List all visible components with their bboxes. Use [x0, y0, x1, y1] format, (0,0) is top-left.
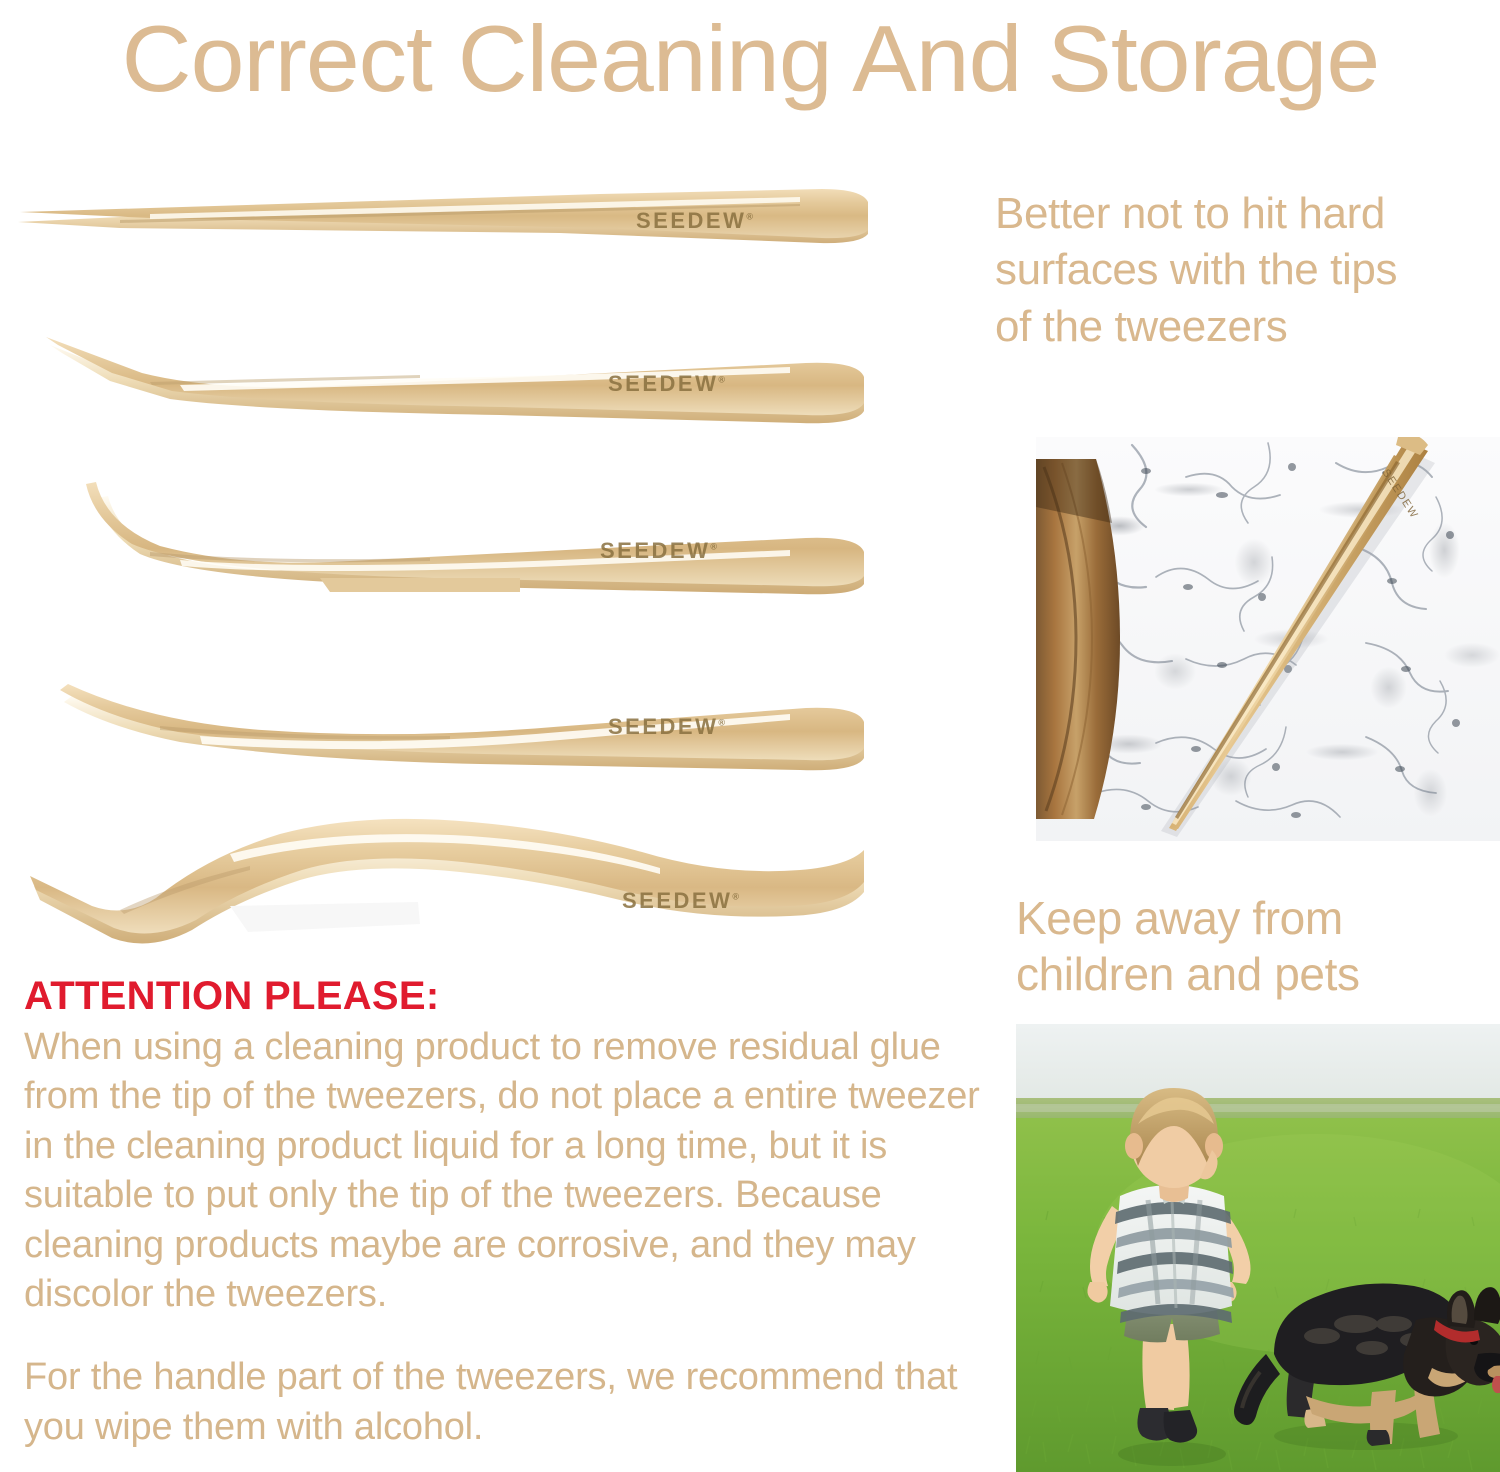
page-title: Correct Cleaning And Storage [121, 12, 1378, 106]
brand-name: SEEDEW [608, 714, 718, 739]
brand-trademark: ® [718, 718, 725, 728]
grass-scene [1016, 1024, 1500, 1472]
brand-logo: SEEDEW® [608, 714, 725, 740]
brand-trademark: ® [718, 375, 725, 385]
attention-paragraph-2: For the handle part of the tweezers, we … [24, 1353, 1004, 1452]
brand-name: SEEDEW [600, 538, 710, 563]
attention-paragraph-1: When using a cleaning product to remove … [24, 1023, 1004, 1319]
note-keep-line-2: children and pets [1016, 946, 1496, 1002]
tweezer-item-s-curve-boot: SEEDEW® [0, 810, 950, 955]
tweezer-item-long-curved: SEEDEW® [0, 662, 950, 782]
child-and-dog-photo [1016, 1024, 1500, 1472]
brand-name: SEEDEW [622, 888, 732, 913]
brand-trademark: ® [710, 542, 717, 552]
attention-block: ATTENTION PLEASE: When using a cleaning … [24, 975, 1004, 1452]
attention-body: When using a cleaning product to remove … [24, 1023, 1004, 1452]
tweezer-on-marble-photo: SEEDEW [1036, 437, 1500, 841]
brand-name: SEEDEW [636, 208, 746, 233]
brand-trademark: ® [732, 892, 739, 902]
brand-logo: SEEDEW® [622, 888, 739, 914]
brand-name: SEEDEW [608, 371, 718, 396]
note-keep-away: Keep away from children and pets [1016, 890, 1496, 1002]
brand-logo: SEEDEW® [600, 538, 717, 564]
tweezer-lineup: SEEDEW® [0, 150, 950, 960]
tweezer-boot-45-icon [0, 325, 950, 435]
note-hit-line-1: Better not to hit hard [995, 186, 1495, 242]
tweezer-item-boot-45: SEEDEW® [0, 325, 950, 435]
tweezer-item-straight-point: SEEDEW® [0, 184, 950, 258]
note-hit-hard-surfaces: Better not to hit hard surfaces with the… [995, 186, 1495, 355]
note-hit-line-3: of the tweezers [995, 299, 1495, 355]
note-hit-line-2: surfaces with the tips [995, 242, 1495, 298]
tweezer-item-curved-j: SEEDEW® [0, 466, 950, 606]
tweezer-curved-j-icon [0, 466, 950, 606]
tweezer-photo-object: SEEDEW [1036, 437, 1500, 841]
tweezer-straight-point-icon [0, 184, 950, 258]
paragraph-spacer [24, 1319, 1004, 1353]
brand-logo: SEEDEW® [636, 208, 753, 234]
page-header: Correct Cleaning And Storage [0, 0, 1500, 118]
brand-trademark: ® [746, 212, 753, 222]
tweezer-long-curved-icon [0, 662, 950, 782]
note-keep-line-1: Keep away from [1016, 890, 1496, 946]
attention-heading: ATTENTION PLEASE: [24, 975, 1004, 1017]
tweezer-s-curve-boot-icon [0, 810, 950, 955]
brand-logo: SEEDEW® [608, 371, 725, 397]
